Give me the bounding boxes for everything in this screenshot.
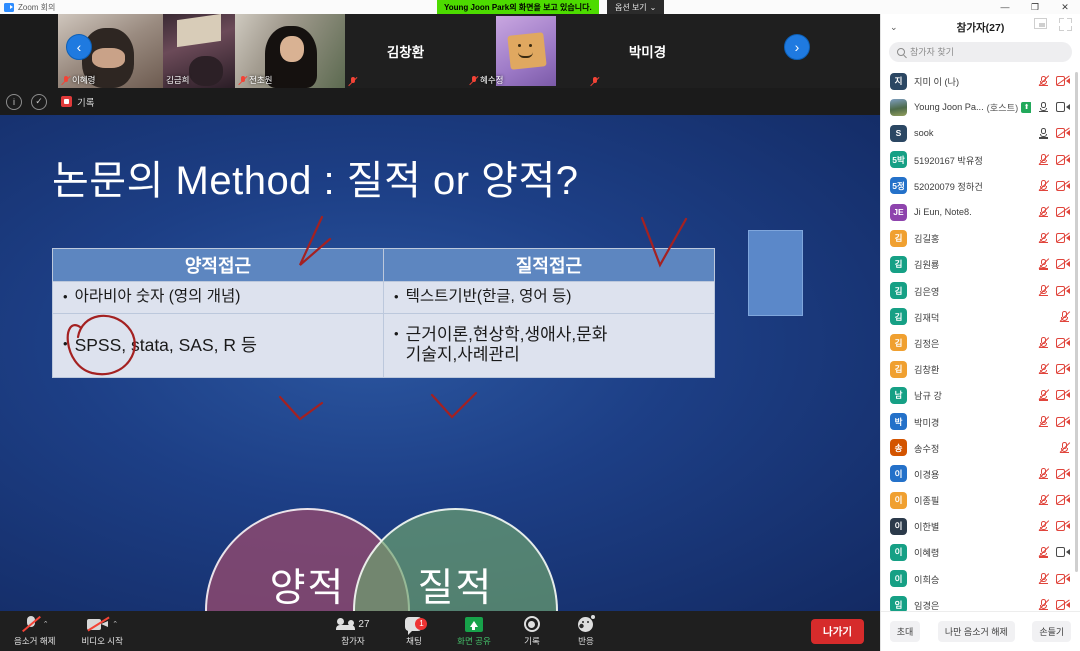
bullet-icon: • bbox=[394, 288, 399, 306]
participant-row[interactable]: 김김정은 bbox=[881, 330, 1080, 356]
filmstrip-left-pad bbox=[0, 14, 58, 88]
filmstrip-prev-button[interactable]: ‹ bbox=[66, 34, 92, 60]
search-icon bbox=[897, 48, 905, 56]
participant-status-icons bbox=[1038, 127, 1074, 139]
participant-status-icons bbox=[1038, 599, 1074, 611]
participant-name: Ji Eun, Note8. bbox=[914, 207, 1031, 217]
avatar: 5박 bbox=[890, 151, 907, 168]
minimize-button[interactable]: — bbox=[990, 0, 1020, 14]
camera-muted-icon[interactable] bbox=[1056, 469, 1070, 479]
participant-filmstrip: 이혜령 김금희 전초원 김창환 bbox=[0, 14, 880, 88]
participant-row[interactable]: 김김재덕 bbox=[881, 304, 1080, 330]
record-button[interactable]: 기록 bbox=[505, 611, 559, 651]
picture-in-picture-icon[interactable] bbox=[1034, 18, 1047, 29]
mic-muted-icon bbox=[61, 75, 70, 85]
participant-name: 김원룡 bbox=[914, 257, 1031, 271]
participant-name: 김정은 bbox=[914, 336, 1031, 350]
avatar: 이 bbox=[890, 465, 907, 482]
venn-circle-qualitative: 질적 연구 bbox=[353, 508, 558, 611]
close-button[interactable]: ✕ bbox=[1050, 0, 1080, 14]
thumbnail-name: 김금희 bbox=[166, 74, 189, 86]
participant-row[interactable]: 임임경은 bbox=[881, 592, 1080, 611]
mic-muted-icon[interactable] bbox=[1038, 154, 1049, 166]
reactions-button[interactable]: 반응 bbox=[559, 611, 613, 651]
participant-row[interactable]: 5박51920167 박유정 bbox=[881, 147, 1080, 173]
participant-name: 51920167 박유정 bbox=[914, 153, 1031, 167]
avatar: 5정 bbox=[890, 177, 907, 194]
audio-options-caret-icon[interactable]: ⌃ bbox=[43, 620, 49, 628]
avatar: 김 bbox=[890, 230, 907, 247]
participant-row[interactable]: 이이혜령 bbox=[881, 539, 1080, 565]
camera-muted-icon[interactable] bbox=[1056, 338, 1070, 348]
participant-name: sook bbox=[914, 128, 1031, 138]
avatar: 김 bbox=[890, 334, 907, 351]
mic-on-icon[interactable] bbox=[1038, 101, 1049, 113]
participant-status-icons bbox=[1038, 520, 1074, 532]
venn-label: 질적 bbox=[418, 568, 494, 610]
participant-name: 이혜령 bbox=[914, 545, 1031, 559]
mic-muted-icon[interactable] bbox=[1038, 206, 1049, 218]
table-cell: •텍스트기반(한글, 영어 등) bbox=[384, 282, 715, 314]
bullet-icon: • bbox=[63, 288, 68, 306]
camera-muted-icon[interactable] bbox=[1056, 574, 1070, 584]
avatar: 김 bbox=[890, 282, 907, 299]
leave-meeting-button[interactable]: 나가기 bbox=[811, 619, 864, 644]
mic-muted-icon[interactable] bbox=[1038, 180, 1049, 192]
camera-muted-icon[interactable] bbox=[1056, 128, 1070, 138]
camera-muted-icon[interactable] bbox=[1056, 76, 1070, 86]
participant-row[interactable]: 지지미 이 (나) bbox=[881, 68, 1080, 94]
thumbnail-name: 이혜령 bbox=[61, 74, 95, 86]
avatar: 김 bbox=[890, 361, 907, 378]
participant-row[interactable]: 5정52020079 정하건 bbox=[881, 173, 1080, 199]
participant-status-icons bbox=[1038, 573, 1074, 585]
thumbnail-name: 혜수정 bbox=[469, 74, 503, 86]
reactions-icon bbox=[578, 617, 593, 632]
participants-label: 참가자 bbox=[341, 635, 364, 647]
thumbnail-name: 박미경 bbox=[587, 14, 708, 88]
participant-status-icons bbox=[1059, 442, 1074, 454]
table-header-cell: 질적접근 bbox=[384, 249, 715, 282]
participants-panel: ⌄ 참가자(27) 지지미 이 (나)Young Joon Pa...(호스트)… bbox=[880, 14, 1080, 651]
participants-list[interactable]: 지지미 이 (나)Young Joon Pa...(호스트)⬆Ssook5박51… bbox=[881, 68, 1080, 611]
avatar: 남 bbox=[890, 387, 907, 404]
mic-muted-icon[interactable] bbox=[1038, 416, 1049, 428]
participant-row[interactable]: Ssook bbox=[881, 120, 1080, 146]
cell-text: SPSS, stata, SAS, R 등 bbox=[75, 335, 257, 356]
participant-status-icons bbox=[1038, 389, 1074, 401]
participant-name: 이한별 bbox=[914, 519, 1031, 533]
participant-name: 김재덕 bbox=[914, 310, 1052, 324]
cell-text: 텍스트기반(한글, 영어 등) bbox=[406, 288, 572, 307]
participants-icon bbox=[336, 618, 355, 630]
participant-name: 김은영 bbox=[914, 284, 1031, 298]
participant-row[interactable]: 이이희승 bbox=[881, 566, 1080, 592]
camera-muted-icon[interactable] bbox=[1056, 233, 1070, 243]
participant-row[interactable]: JEJi Eun, Note8. bbox=[881, 199, 1080, 225]
camera-muted-icon[interactable] bbox=[1056, 417, 1070, 427]
participant-row[interactable]: Young Joon Pa...(호스트)⬆ bbox=[881, 94, 1080, 120]
invite-button[interactable]: 초대 bbox=[890, 621, 921, 642]
participant-status-icons bbox=[1038, 468, 1074, 480]
camera-muted-icon[interactable] bbox=[1056, 364, 1070, 374]
participant-status-icons bbox=[1038, 494, 1074, 506]
video-toggle-button[interactable]: ⌃ 비디오 시작 bbox=[81, 611, 122, 651]
chat-unread-badge: 1 bbox=[415, 618, 427, 630]
participant-name: 이희승 bbox=[914, 572, 1031, 586]
share-screen-button[interactable]: 화면 공유 bbox=[443, 611, 505, 651]
mic-muted-icon bbox=[348, 76, 357, 86]
mic-muted-icon[interactable] bbox=[1059, 311, 1070, 323]
comparison-table: 양적접근 질적접근 •아라비아 숫자 (영의 개념) •텍스트기반(한글, 영어… bbox=[52, 248, 715, 378]
participant-row[interactable]: 남남규 강 bbox=[881, 382, 1080, 408]
participant-row[interactable]: 김김길홍 bbox=[881, 225, 1080, 251]
participant-status-icons bbox=[1059, 311, 1074, 323]
participant-status-icons bbox=[1038, 546, 1074, 558]
title-bar-left: Zoom 회의 bbox=[0, 2, 55, 13]
venn-label: 양적 bbox=[270, 568, 346, 610]
table-row: •SPSS, stata, SAS, R 등 •근거이론,현상학,생애사,문화 … bbox=[53, 313, 715, 377]
share-badge-icon: ⬆ bbox=[1021, 102, 1031, 113]
name-thumbnail[interactable]: 김창환 bbox=[345, 14, 466, 88]
mic-muted-icon[interactable] bbox=[1038, 389, 1049, 401]
thumbnail-name: 김창환 bbox=[345, 14, 466, 88]
microphone-muted-icon bbox=[21, 615, 41, 633]
participant-row[interactable]: 김김원룡 bbox=[881, 251, 1080, 277]
maximize-button[interactable]: ❐ bbox=[1020, 0, 1050, 14]
participant-status-icons bbox=[1038, 75, 1074, 87]
participant-row[interactable]: 박박미경 bbox=[881, 408, 1080, 434]
camera-muted-icon[interactable] bbox=[1056, 181, 1070, 191]
participant-status-icons bbox=[1038, 416, 1074, 428]
participant-status-icons bbox=[1038, 232, 1074, 244]
view-mode-icons bbox=[1034, 18, 1072, 31]
chevron-down-icon: ⌄ bbox=[650, 3, 657, 12]
mic-muted-icon[interactable] bbox=[1038, 337, 1049, 349]
window-controls: — ❐ ✕ bbox=[990, 0, 1080, 14]
slide-blue-rectangle bbox=[748, 230, 803, 316]
table-header-row: 양적접근 질적접근 bbox=[53, 249, 715, 282]
participant-row[interactable]: 송송수정 bbox=[881, 435, 1080, 461]
participants-search-wrap bbox=[881, 40, 1080, 68]
participants-panel-footer: 초대 나만 음소거 해제 손들기 bbox=[881, 611, 1080, 651]
bullet-icon: • bbox=[394, 325, 399, 343]
camera-on-icon[interactable] bbox=[1056, 102, 1070, 112]
video-toggle-label: 비디오 시작 bbox=[81, 635, 122, 647]
view-options-button[interactable]: 옵션 보기 ⌄ bbox=[607, 0, 664, 14]
camera-muted-icon[interactable] bbox=[1056, 207, 1070, 217]
mic-muted-icon[interactable] bbox=[1038, 285, 1049, 297]
mic-muted-icon[interactable] bbox=[1038, 232, 1049, 244]
camera-muted-icon[interactable] bbox=[1056, 495, 1070, 505]
raise-hand-button[interactable]: 손들기 bbox=[1032, 621, 1071, 642]
participant-row[interactable]: 이이종필 bbox=[881, 487, 1080, 513]
mic-muted-icon[interactable] bbox=[1059, 442, 1070, 454]
participant-status-icons bbox=[1038, 285, 1074, 297]
record-label: 기록 bbox=[524, 635, 540, 647]
chat-button[interactable]: 1 채팅 bbox=[385, 611, 443, 651]
participant-name: 52020079 정하건 bbox=[914, 179, 1031, 193]
camera-muted-icon[interactable] bbox=[1056, 259, 1070, 269]
screen-share-notice: Young Joon Park의 화면을 보고 있습니다. bbox=[437, 0, 599, 14]
camera-muted-icon bbox=[86, 616, 110, 632]
zoom-logo-icon bbox=[4, 3, 14, 12]
participant-name: Young Joon Pa...(호스트)⬆ bbox=[914, 100, 1031, 114]
mic-muted-icon bbox=[590, 76, 599, 86]
share-screen-icon bbox=[465, 617, 483, 632]
mic-muted-icon[interactable] bbox=[1038, 468, 1049, 480]
participant-name: 남규 강 bbox=[914, 388, 1031, 402]
search-input[interactable] bbox=[910, 47, 1064, 57]
mic-muted-icon[interactable] bbox=[1038, 599, 1049, 611]
participant-row[interactable]: 이이한별 bbox=[881, 513, 1080, 539]
mic-muted-icon[interactable] bbox=[1038, 520, 1049, 532]
mic-muted-icon[interactable] bbox=[1038, 363, 1049, 375]
participants-count: 27 bbox=[358, 619, 369, 630]
thumbnail-name: 전초원 bbox=[238, 74, 272, 86]
avatar: S bbox=[890, 125, 907, 142]
info-icon[interactable]: i bbox=[6, 94, 22, 110]
mic-muted-icon[interactable] bbox=[1038, 75, 1049, 87]
avatar: 송 bbox=[890, 439, 907, 456]
host-tag: (호스트) bbox=[987, 100, 1018, 114]
participant-name: 송수정 bbox=[914, 441, 1052, 455]
app-title: Zoom 회의 bbox=[18, 2, 55, 13]
slide-title: 논문의 Method : 질적 or 양적? bbox=[52, 148, 579, 206]
avatar: 지 bbox=[890, 73, 907, 90]
fullscreen-icon[interactable] bbox=[1059, 18, 1072, 31]
mic-muted-icon[interactable] bbox=[1038, 546, 1049, 558]
cell-text: 근거이론,현상학,생애사,문화 기술지,사례관리 bbox=[406, 325, 608, 366]
name-thumbnail[interactable]: 박미경 bbox=[587, 14, 708, 88]
thumbnail-mic-state bbox=[348, 76, 357, 86]
video-thumbnail[interactable]: 김금희 bbox=[163, 14, 235, 88]
participants-search[interactable] bbox=[889, 42, 1072, 62]
view-options-label: 옵션 보기 bbox=[615, 2, 647, 13]
avatar: 박 bbox=[890, 413, 907, 430]
participant-name: 이종필 bbox=[914, 493, 1031, 507]
camera-muted-icon[interactable] bbox=[1056, 286, 1070, 296]
annotation-bar: i ✓ 기록 bbox=[0, 88, 880, 115]
mic-muted-icon[interactable] bbox=[1038, 258, 1049, 270]
avatar: 이 bbox=[890, 492, 907, 509]
participant-status-icons bbox=[1038, 180, 1074, 192]
participant-status-icons bbox=[1038, 337, 1074, 349]
participant-row[interactable]: 김김은영 bbox=[881, 278, 1080, 304]
participant-row[interactable]: 이이경용 bbox=[881, 461, 1080, 487]
mic-muted-icon[interactable] bbox=[1038, 494, 1049, 506]
avatar: 임 bbox=[890, 596, 907, 611]
table-header-cell: 양적접근 bbox=[53, 249, 384, 282]
mic-on-icon[interactable] bbox=[1038, 127, 1049, 139]
table-cell: •근거이론,현상학,생애사,문화 기술지,사례관리 bbox=[384, 313, 715, 377]
participants-button[interactable]: 27 참가자 bbox=[321, 611, 385, 651]
avatar: JE bbox=[890, 204, 907, 221]
record-icon bbox=[524, 616, 540, 632]
table-cell: •SPSS, stata, SAS, R 등 bbox=[53, 313, 384, 377]
participant-name: 박미경 bbox=[914, 415, 1031, 429]
cell-text: 아라비아 숫자 (영의 개념) bbox=[75, 288, 241, 307]
title-bar: Zoom 회의 Young Joon Park의 화면을 보고 있습니다. 옵션… bbox=[0, 0, 1080, 14]
video-options-caret-icon[interactable]: ⌃ bbox=[112, 620, 118, 628]
chat-label: 채팅 bbox=[406, 635, 422, 647]
unmute-me-button[interactable]: 나만 음소거 해제 bbox=[938, 621, 1015, 642]
avatar bbox=[890, 99, 907, 116]
shield-icon[interactable]: ✓ bbox=[31, 94, 47, 110]
avatar: 김 bbox=[890, 308, 907, 325]
participant-name: 김창환 bbox=[914, 362, 1031, 376]
share-screen-label: 화면 공유 bbox=[457, 635, 491, 647]
mute-toggle-button[interactable]: ⌃ 음소거 해제 bbox=[14, 611, 55, 651]
mic-muted-icon[interactable] bbox=[1038, 573, 1049, 585]
recording-label: 기록 bbox=[77, 95, 94, 109]
camera-muted-icon[interactable] bbox=[1056, 155, 1070, 165]
table-row: •아라비아 숫자 (영의 개념) •텍스트기반(한글, 영어 등) bbox=[53, 282, 715, 314]
table-cell: •아라비아 숫자 (영의 개념) bbox=[53, 282, 384, 314]
video-thumbnail[interactable]: 전초원 bbox=[235, 14, 345, 88]
meeting-toolbar: ⌃ 음소거 해제 ⌃ 비디오 시작 27 참가자 1 채팅 bbox=[0, 611, 880, 651]
chevron-down-icon[interactable]: ⌄ bbox=[890, 22, 898, 33]
participant-status-icons bbox=[1038, 363, 1074, 375]
camera-muted-icon[interactable] bbox=[1056, 521, 1070, 531]
bullet-icon: • bbox=[63, 335, 68, 353]
avatar: 이 bbox=[890, 544, 907, 561]
shared-screen-slide: 논문의 Method : 질적 or 양적? 양적접근 질적접근 •아라비아 숫… bbox=[0, 115, 880, 611]
avatar: 이 bbox=[890, 570, 907, 587]
participant-name: 이경용 bbox=[914, 467, 1031, 481]
mute-toggle-label: 음소거 해제 bbox=[14, 635, 55, 647]
participants-scrollbar[interactable] bbox=[1075, 72, 1078, 572]
camera-muted-icon[interactable] bbox=[1056, 600, 1070, 610]
mic-muted-icon bbox=[238, 75, 247, 85]
mic-muted-icon bbox=[469, 75, 478, 85]
participant-status-icons bbox=[1038, 101, 1074, 113]
venn-diagram: 양적 연구 질적 연구 bbox=[205, 508, 565, 611]
record-stop-icon bbox=[61, 96, 72, 107]
participant-name: 김길홍 bbox=[914, 231, 1031, 245]
participant-name: 지미 이 (나) bbox=[914, 74, 1031, 88]
avatar: 김 bbox=[890, 256, 907, 273]
participant-status-icons bbox=[1038, 154, 1074, 166]
participant-status-icons bbox=[1038, 206, 1074, 218]
camera-on-icon[interactable] bbox=[1056, 547, 1070, 557]
avatar-thumbnail[interactable]: 혜수정 bbox=[466, 14, 587, 88]
participant-name: 임경은 bbox=[914, 598, 1031, 611]
filmstrip-next-button[interactable]: › bbox=[784, 34, 810, 60]
avatar: 이 bbox=[890, 518, 907, 535]
reactions-label: 반응 bbox=[578, 635, 594, 647]
participant-status-icons bbox=[1038, 258, 1074, 270]
thumbnail-mic-state bbox=[590, 76, 599, 86]
recording-indicator[interactable]: 기록 bbox=[61, 95, 94, 109]
camera-muted-icon[interactable] bbox=[1056, 390, 1070, 400]
participant-row[interactable]: 김김창환 bbox=[881, 356, 1080, 382]
zoom-meeting-window: Zoom 회의 Young Joon Park의 화면을 보고 있습니다. 옵션… bbox=[0, 0, 1080, 651]
